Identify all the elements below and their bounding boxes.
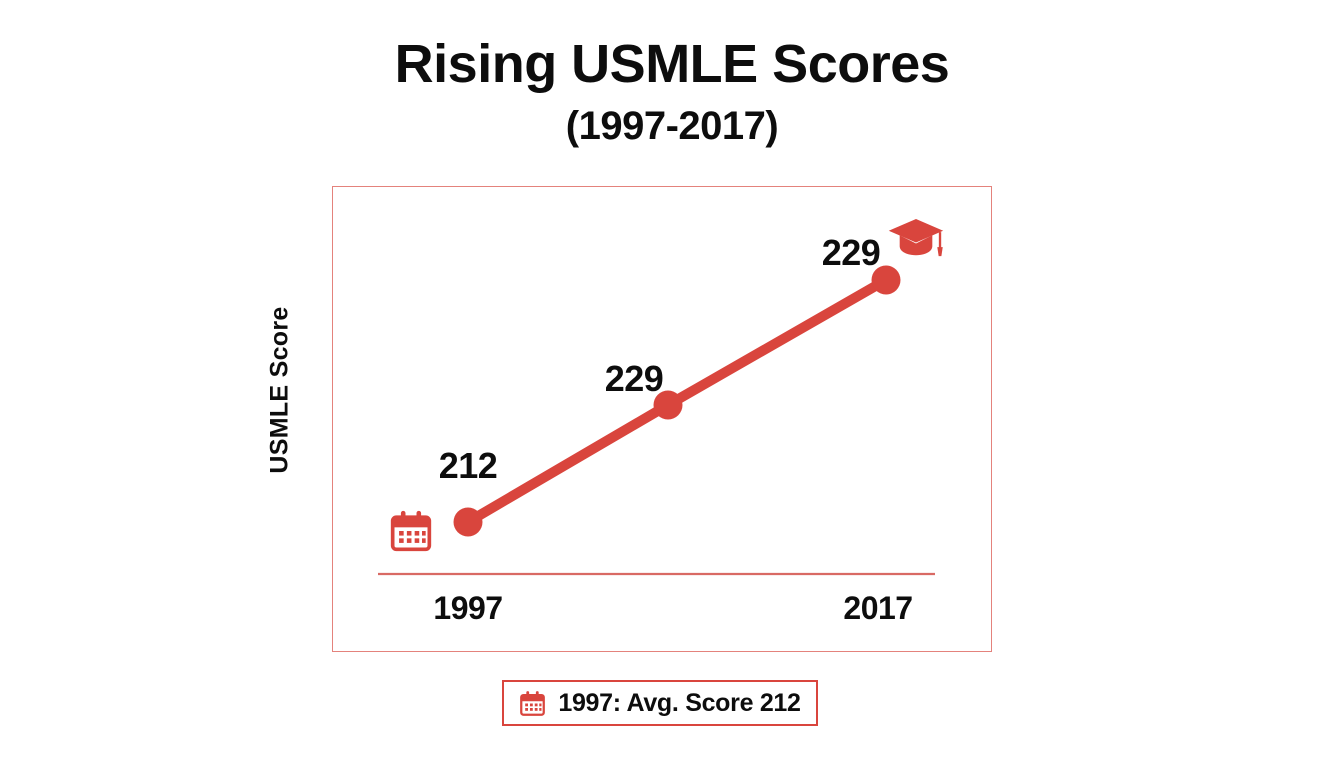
legend[interactable]: 1997: Avg. Score 212 bbox=[502, 680, 818, 726]
data-point-label: 229 bbox=[822, 232, 881, 274]
data-point-label: 229 bbox=[605, 358, 664, 400]
calendar-icon bbox=[389, 509, 433, 553]
x-axis-tick-label: 1997 bbox=[433, 590, 502, 627]
x-axis-tick-label: 2017 bbox=[843, 590, 912, 627]
y-axis-title-text: USMLE Score bbox=[266, 306, 295, 473]
calendar-icon bbox=[519, 690, 546, 717]
graduation-cap-icon bbox=[887, 215, 945, 261]
chart-subtitle: (1997-2017) bbox=[0, 105, 1344, 147]
chart-title: Rising USMLE Scores bbox=[0, 36, 1344, 93]
legend-label: 1997: Avg. Score 212 bbox=[558, 689, 800, 718]
data-point-label: 212 bbox=[439, 445, 498, 487]
chart-canvas: Rising USMLE Scores (1997-2017) USMLE Sc… bbox=[0, 0, 1344, 768]
